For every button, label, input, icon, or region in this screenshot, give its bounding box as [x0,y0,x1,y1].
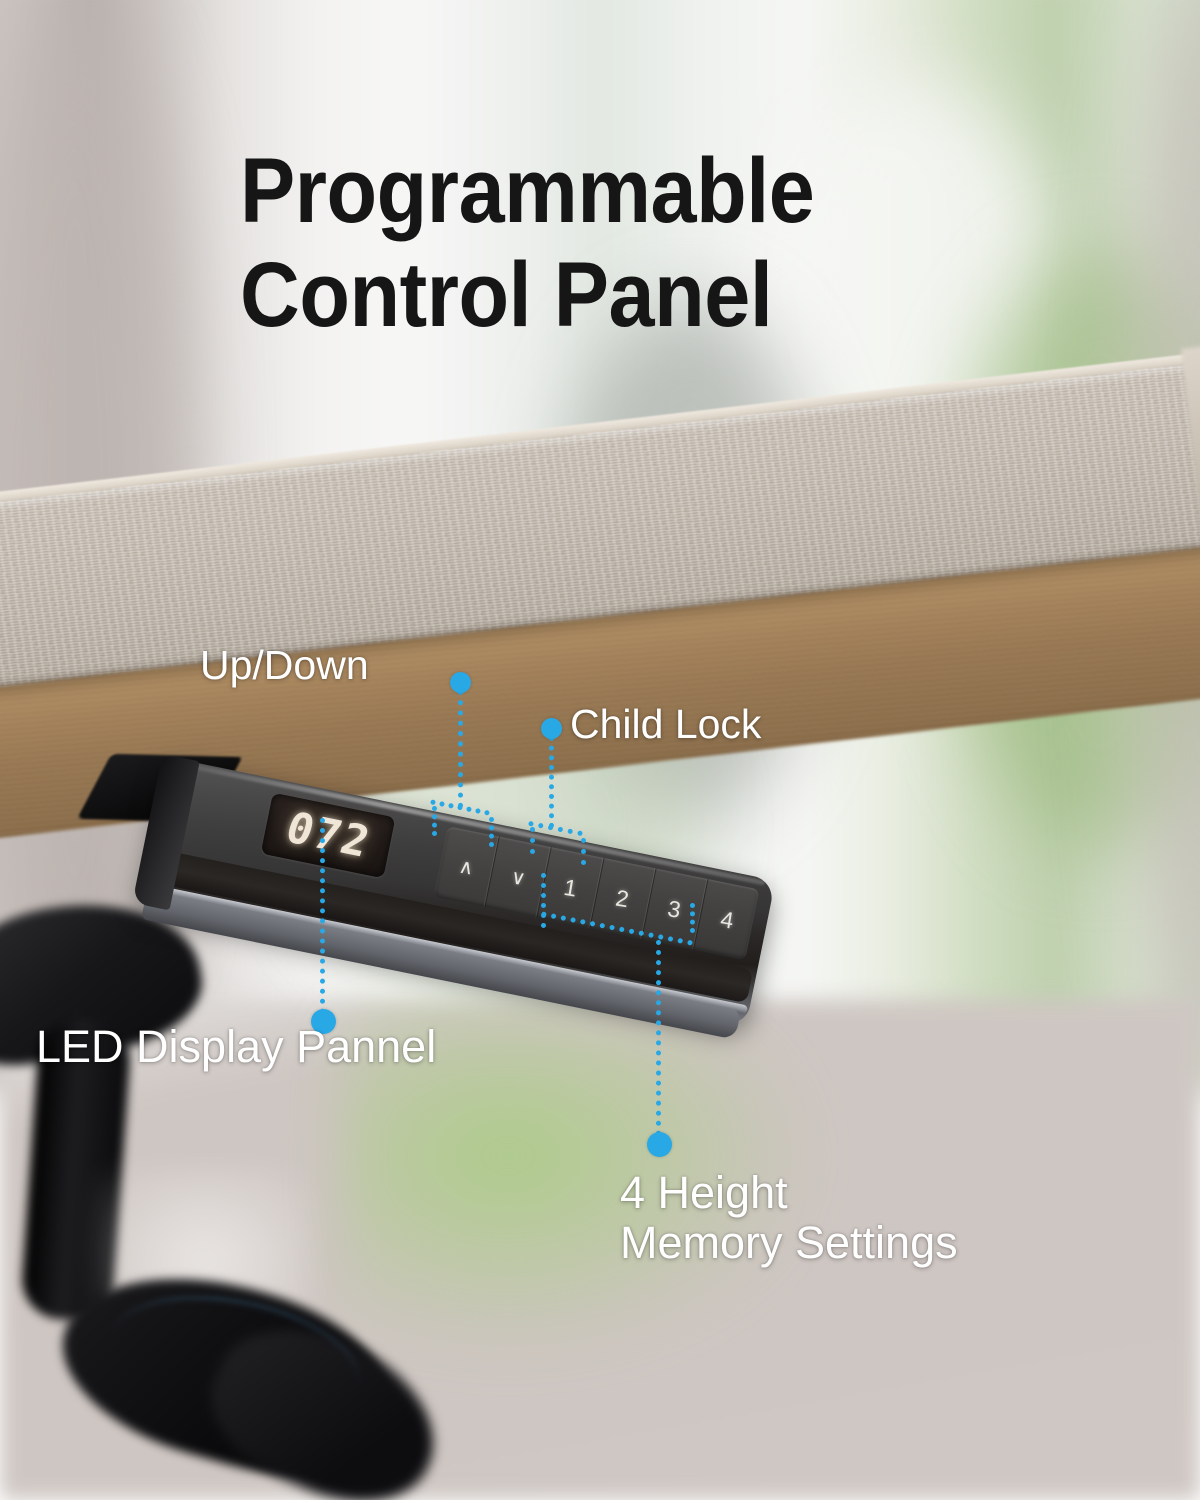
memory-leader-right-tick [690,903,695,933]
callout-label-led-display: LED Display Pannel [36,1022,436,1072]
page-title-line-1: Programmable [240,140,924,244]
childlock-leader-right-tick [581,838,586,865]
memory-3-label: 3 [666,895,683,924]
childlock-leader-stem [549,736,554,828]
updown-callout-dot [450,672,471,693]
memory-leader-stem [656,940,661,1136]
childlock-leader-left-tick [530,827,535,854]
memory-2-label: 2 [614,884,631,913]
memory-leader-left-tick [541,873,546,928]
down-arrow-icon: ∨ [509,864,528,891]
callout-label-up-down: Up/Down [200,643,369,689]
page-title: Programmable Control Panel [240,140,924,348]
callout-label-child-lock: Child Lock [570,702,761,748]
product-feature-image: Programmable Control Panel 072 [0,0,1200,1500]
led-leader-stem [320,818,325,1014]
memory-callout-dot [647,1132,672,1157]
childlock-callout-dot [541,718,562,739]
memory-4-label: 4 [718,905,735,934]
updown-leader-right-tick [489,817,494,847]
updown-leader-left-tick [432,806,437,836]
updown-leader-stem [458,690,463,808]
callout-label-memory-settings: 4 Height Memory Settings [620,1168,958,1269]
led-display-value: 072 [280,803,377,868]
up-arrow-icon: ∧ [457,853,476,880]
memory-1-label: 1 [562,873,579,902]
